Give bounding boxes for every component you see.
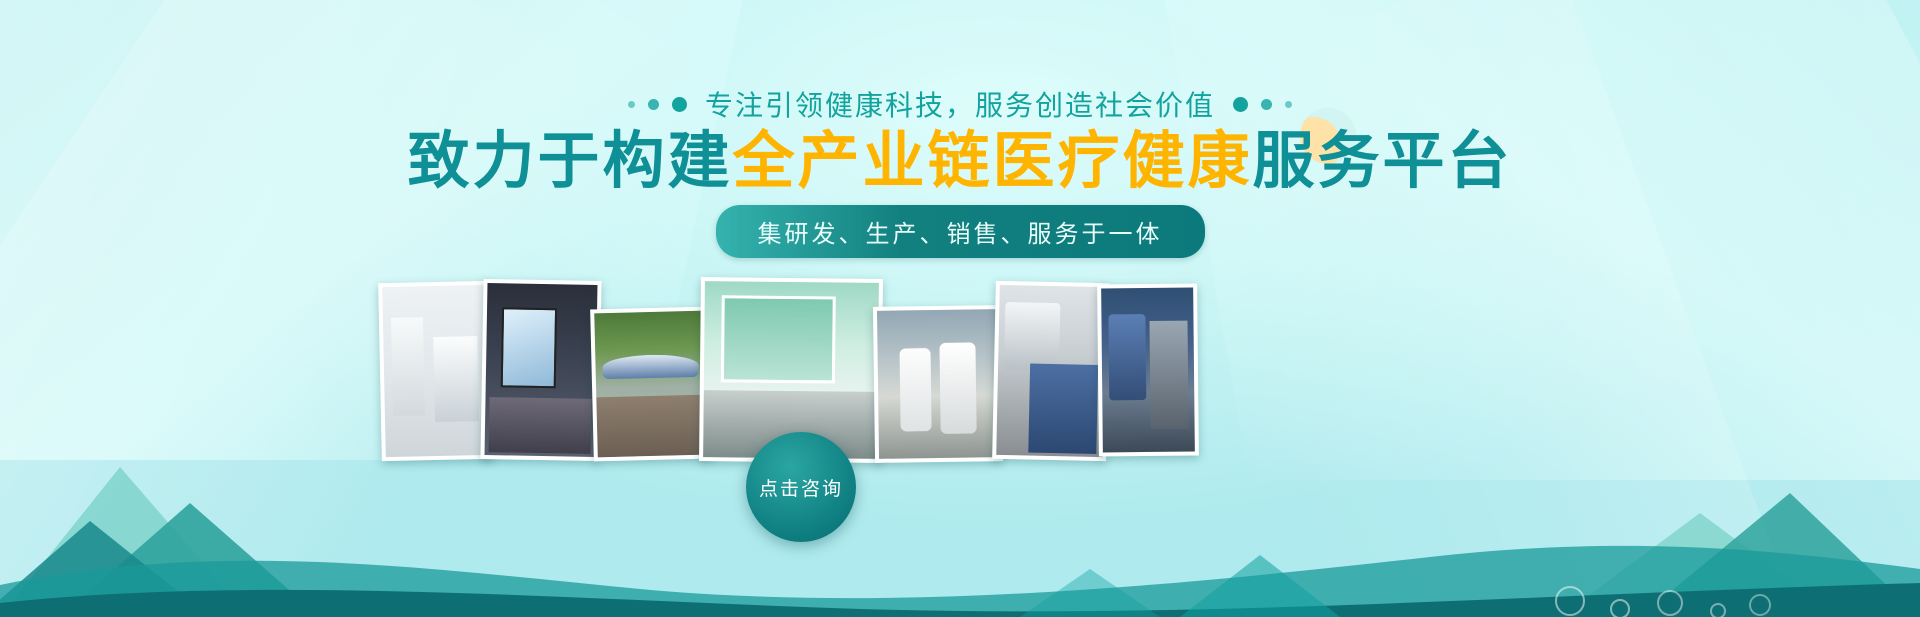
dot-large-icon xyxy=(1233,97,1248,112)
dot-large-icon xyxy=(672,97,687,112)
subtitle-pill-wrap: 集研发、生产、销售、服务于一体 xyxy=(0,205,1920,258)
page-title: 致力于构建全产业链医疗健康服务平台 xyxy=(0,126,1920,197)
photo-card-laboratory-equipment[interactable] xyxy=(378,281,494,461)
consult-button-label: 点击咨询 xyxy=(759,474,843,501)
dot-small-icon xyxy=(628,101,635,108)
photo-laboratory-equipment xyxy=(382,285,490,457)
tagline-text: 专注引领健康科技，服务创造社会价值 xyxy=(705,84,1215,124)
photo-card-equipment-operator[interactable] xyxy=(992,281,1110,461)
photo-card-outdoor-health-event[interactable] xyxy=(590,307,712,462)
tagline-row: 专注引领健康科技，服务创造社会价值 xyxy=(0,84,1920,124)
dot-medium-icon xyxy=(1261,99,1272,110)
headline-part-3: 服务平台 xyxy=(1253,127,1513,196)
photo-outdoor-health-event xyxy=(594,311,707,458)
health-platform-banner: 专注引领健康科技，服务创造社会价值 致力于构建全产业链医疗健康服务平台 集研发、… xyxy=(0,0,1920,617)
photo-medical-staff-outdoor xyxy=(877,309,999,459)
headline-part-2: 全产业链医疗健康 xyxy=(732,127,1252,196)
photo-card-health-screening-station[interactable] xyxy=(480,279,601,461)
photo-production-facility xyxy=(1101,288,1195,453)
photo-card-production-facility[interactable] xyxy=(1097,283,1199,456)
consult-button[interactable]: 点击咨询 xyxy=(746,432,856,542)
subtitle-pill: 集研发、生产、销售、服务于一体 xyxy=(716,205,1205,258)
photo-equipment-operator xyxy=(996,285,1106,457)
photo-card-medical-staff-outdoor[interactable] xyxy=(873,305,1003,463)
dot-medium-icon xyxy=(648,99,659,110)
dot-ornament-right xyxy=(1233,97,1292,112)
headline-part-1: 致力于构建 xyxy=(407,127,732,196)
dot-ornament-left xyxy=(628,97,687,112)
photo-strip xyxy=(0,278,1920,466)
dot-small-icon xyxy=(1285,101,1292,108)
photo-health-screening-station xyxy=(485,283,598,457)
